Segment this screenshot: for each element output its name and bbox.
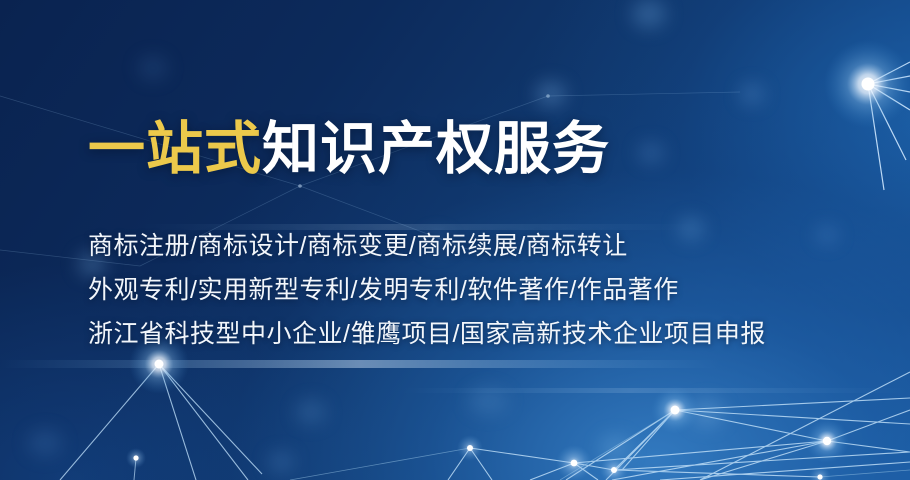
headline-highlight: 一站式 (88, 117, 262, 181)
service-line-programs: 浙江省科技型中小企业/雏鹰项目/国家高新技术企业项目申报 (88, 312, 848, 356)
banner-content: 一站式知识产权服务 商标注册/商标设计/商标变更/商标续展/商标转让 外观专利/… (88, 0, 848, 480)
service-line-patent: 外观专利/实用新型专利/发明专利/软件著作/作品著作 (88, 268, 848, 312)
service-line-trademark: 商标注册/商标设计/商标变更/商标续展/商标转让 (88, 224, 848, 268)
page-title: 一站式知识产权服务 (88, 120, 610, 180)
promo-banner: 一站式知识产权服务 商标注册/商标设计/商标变更/商标续展/商标转让 外观专利/… (0, 0, 910, 480)
headline-rest: 知识产权服务 (262, 117, 610, 181)
service-list: 商标注册/商标设计/商标变更/商标续展/商标转让 外观专利/实用新型专利/发明专… (88, 224, 848, 356)
